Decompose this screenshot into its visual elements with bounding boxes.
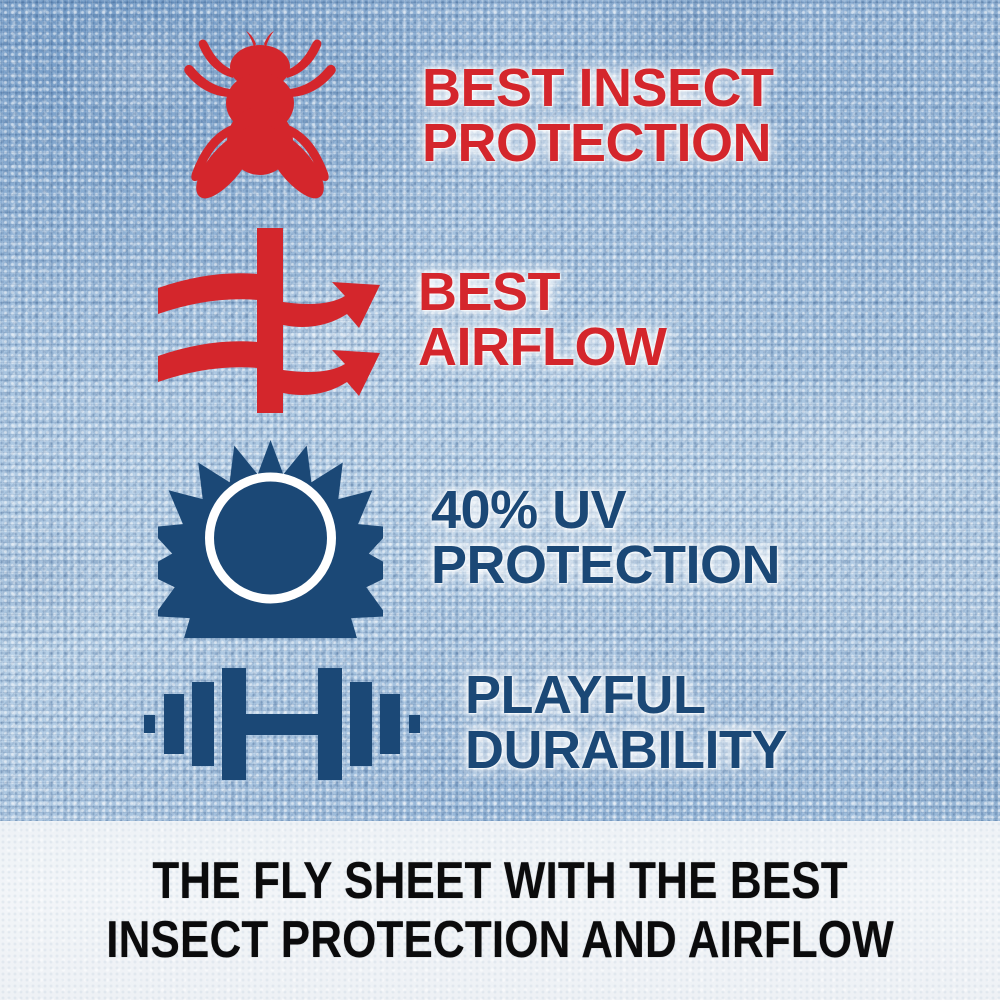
fly-icon <box>170 21 350 211</box>
feature-row-uv-protection: 40% UV PROTECTION <box>150 438 1000 638</box>
dumbbell-icon-wrap <box>142 658 422 788</box>
feature-label-insect-protection: BEST INSECT PROTECTION <box>422 61 774 171</box>
caption-bar: THE FLY SHEET WITH THE BEST INSECT PROTE… <box>0 821 1000 1000</box>
feature-row-insect-protection: BEST INSECT PROTECTION <box>150 18 1000 214</box>
fly-icon-wrap <box>170 21 350 211</box>
infographic-poster: BEST INSECT PROTECTION BEST AIRF <box>0 0 1000 1000</box>
sun-rays <box>158 440 383 638</box>
feature-label-uv-protection: 40% UV PROTECTION <box>431 483 780 593</box>
feature-row-durability: PLAYFUL DURABILITY <box>130 648 1000 798</box>
caption-text: THE FLY SHEET WITH THE BEST INSECT PROTE… <box>106 852 894 968</box>
sun-icon-wrap <box>158 438 383 638</box>
dumbbell-icon <box>142 658 422 788</box>
feature-label-airflow: BEST AIRFLOW <box>418 265 666 375</box>
airflow-arrows-icon <box>150 228 385 413</box>
sun-uv-icon <box>158 438 383 638</box>
airflow-icon-wrap <box>150 228 385 413</box>
feature-label-durability: PLAYFUL DURABILITY <box>465 668 787 778</box>
feature-row-airflow: BEST AIRFLOW <box>150 222 1000 418</box>
